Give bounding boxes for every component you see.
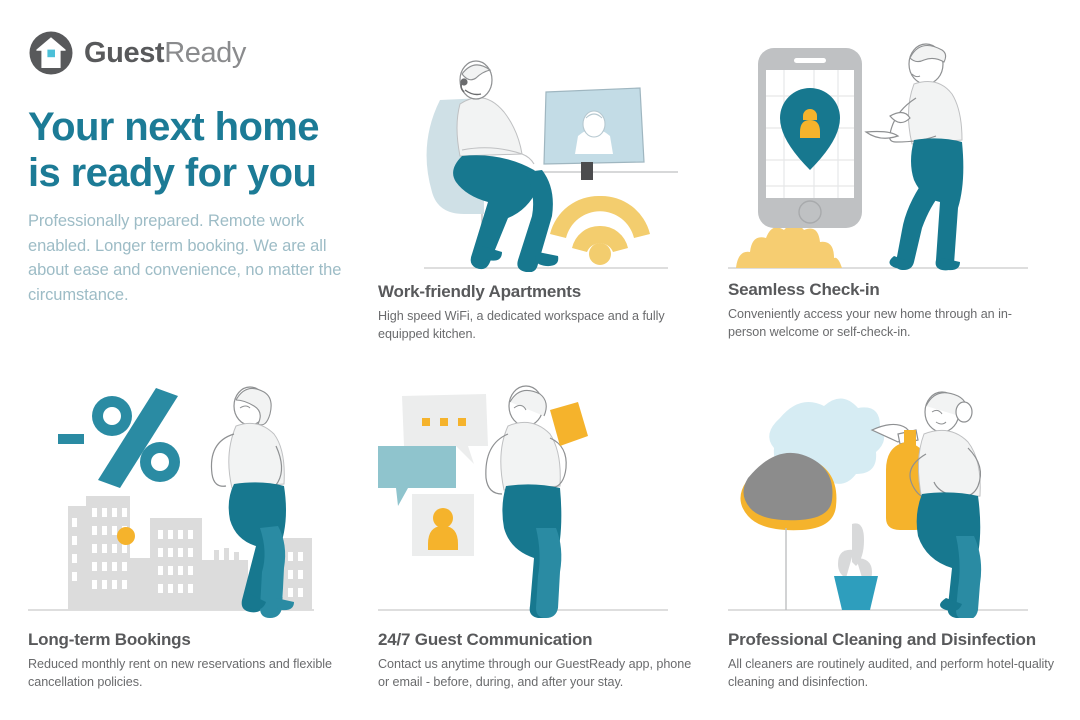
page-title: Your next home is ready for you bbox=[28, 104, 368, 197]
hero-block: Your next home is ready for you Professi… bbox=[28, 104, 368, 308]
illustration-person-spraying-cleaner-chair-plant bbox=[728, 378, 1058, 618]
card-title: Professional Cleaning and Disinfection bbox=[728, 630, 1058, 650]
card-title: Seamless Check-in bbox=[728, 280, 1048, 300]
card-title: Work-friendly Apartments bbox=[378, 282, 698, 302]
illustration-chat-bubbles-person-with-phone bbox=[378, 378, 698, 618]
brand-name-light: Ready bbox=[164, 37, 246, 69]
headline-line-2: is ready for you bbox=[28, 151, 316, 195]
card-guest-communication: 24/7 Guest Communication Contact us anyt… bbox=[378, 378, 698, 692]
card-professional-cleaning: Professional Cleaning and Disinfection A… bbox=[728, 378, 1058, 692]
card-long-term-bookings: Long-term Bookings Reduced monthly rent … bbox=[28, 378, 348, 692]
card-body: High speed WiFi, a dedicated workspace a… bbox=[378, 308, 698, 344]
brand-name-bold: Guest bbox=[84, 37, 164, 69]
brand-wordmark: GuestReady bbox=[84, 39, 246, 68]
infographic-page: GuestReady Your next home is ready for y… bbox=[0, 0, 1080, 720]
card-body: Reduced monthly rent on new reservations… bbox=[28, 656, 348, 692]
card-body: Conveniently access your new home throug… bbox=[728, 306, 1048, 342]
card-title: 24/7 Guest Communication bbox=[378, 630, 698, 650]
headline-line-1: Your next home bbox=[28, 105, 319, 149]
card-body: Contact us anytime through our GuestRead… bbox=[378, 656, 698, 692]
card-title: Long-term Bookings bbox=[28, 630, 348, 650]
card-body: All cleaners are routinely audited, and … bbox=[728, 656, 1058, 692]
brand-logo: GuestReady bbox=[28, 30, 246, 76]
card-work-friendly-apartments: Work-friendly Apartments High speed WiFi… bbox=[378, 40, 698, 344]
guestready-house-circle-icon bbox=[28, 30, 74, 76]
illustration-person-at-desk-with-monitor-and-wifi bbox=[378, 40, 698, 272]
card-seamless-check-in: Seamless Check-in Conveniently access yo… bbox=[728, 20, 1048, 342]
illustration-percent-discount-city-skyline-walking-person bbox=[28, 378, 348, 618]
illustration-smartphone-map-pin-with-person bbox=[728, 20, 1048, 272]
hero-subtitle: Professionally prepared. Remote work ena… bbox=[28, 209, 368, 308]
